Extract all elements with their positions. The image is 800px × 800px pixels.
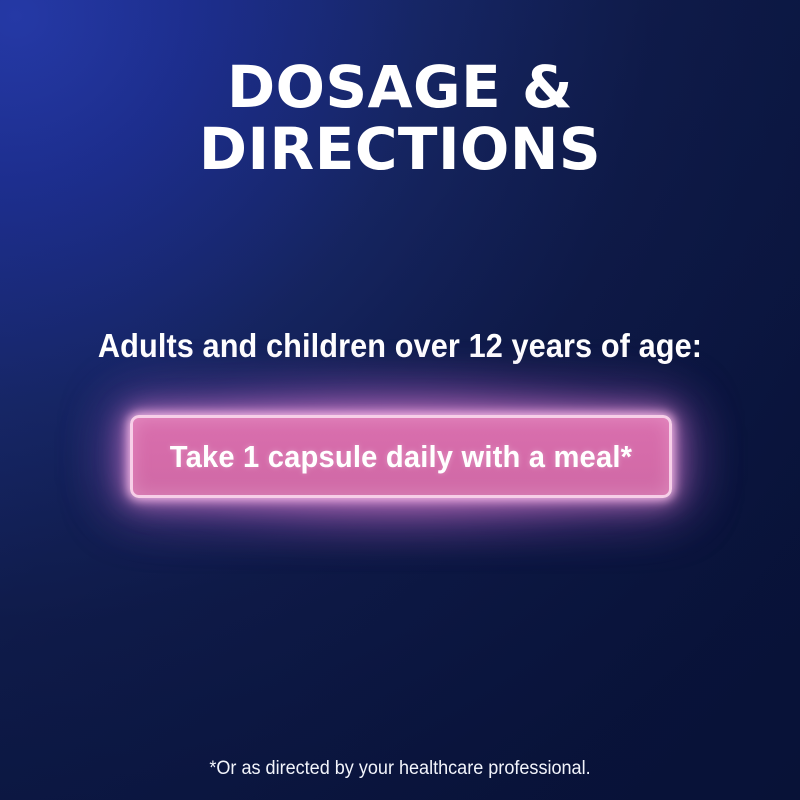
audience-subtitle: Adults and children over 12 years of age… (28, 327, 772, 365)
page-title-line-1: DOSAGE & (0, 56, 800, 118)
page-title-line-2: DIRECTIONS (0, 118, 800, 180)
callout-box: Take 1 capsule daily with a meal* (130, 415, 672, 498)
dosage-callout: Take 1 capsule daily with a meal* (130, 415, 672, 498)
callout-instruction-text: Take 1 capsule daily with a meal* (170, 440, 632, 474)
footnote-disclaimer: *Or as directed by your healthcare profe… (20, 757, 780, 781)
dosage-directions-poster: DOSAGE & DIRECTIONS Adults and children … (0, 0, 800, 800)
page-title: DOSAGE & DIRECTIONS (0, 56, 800, 180)
